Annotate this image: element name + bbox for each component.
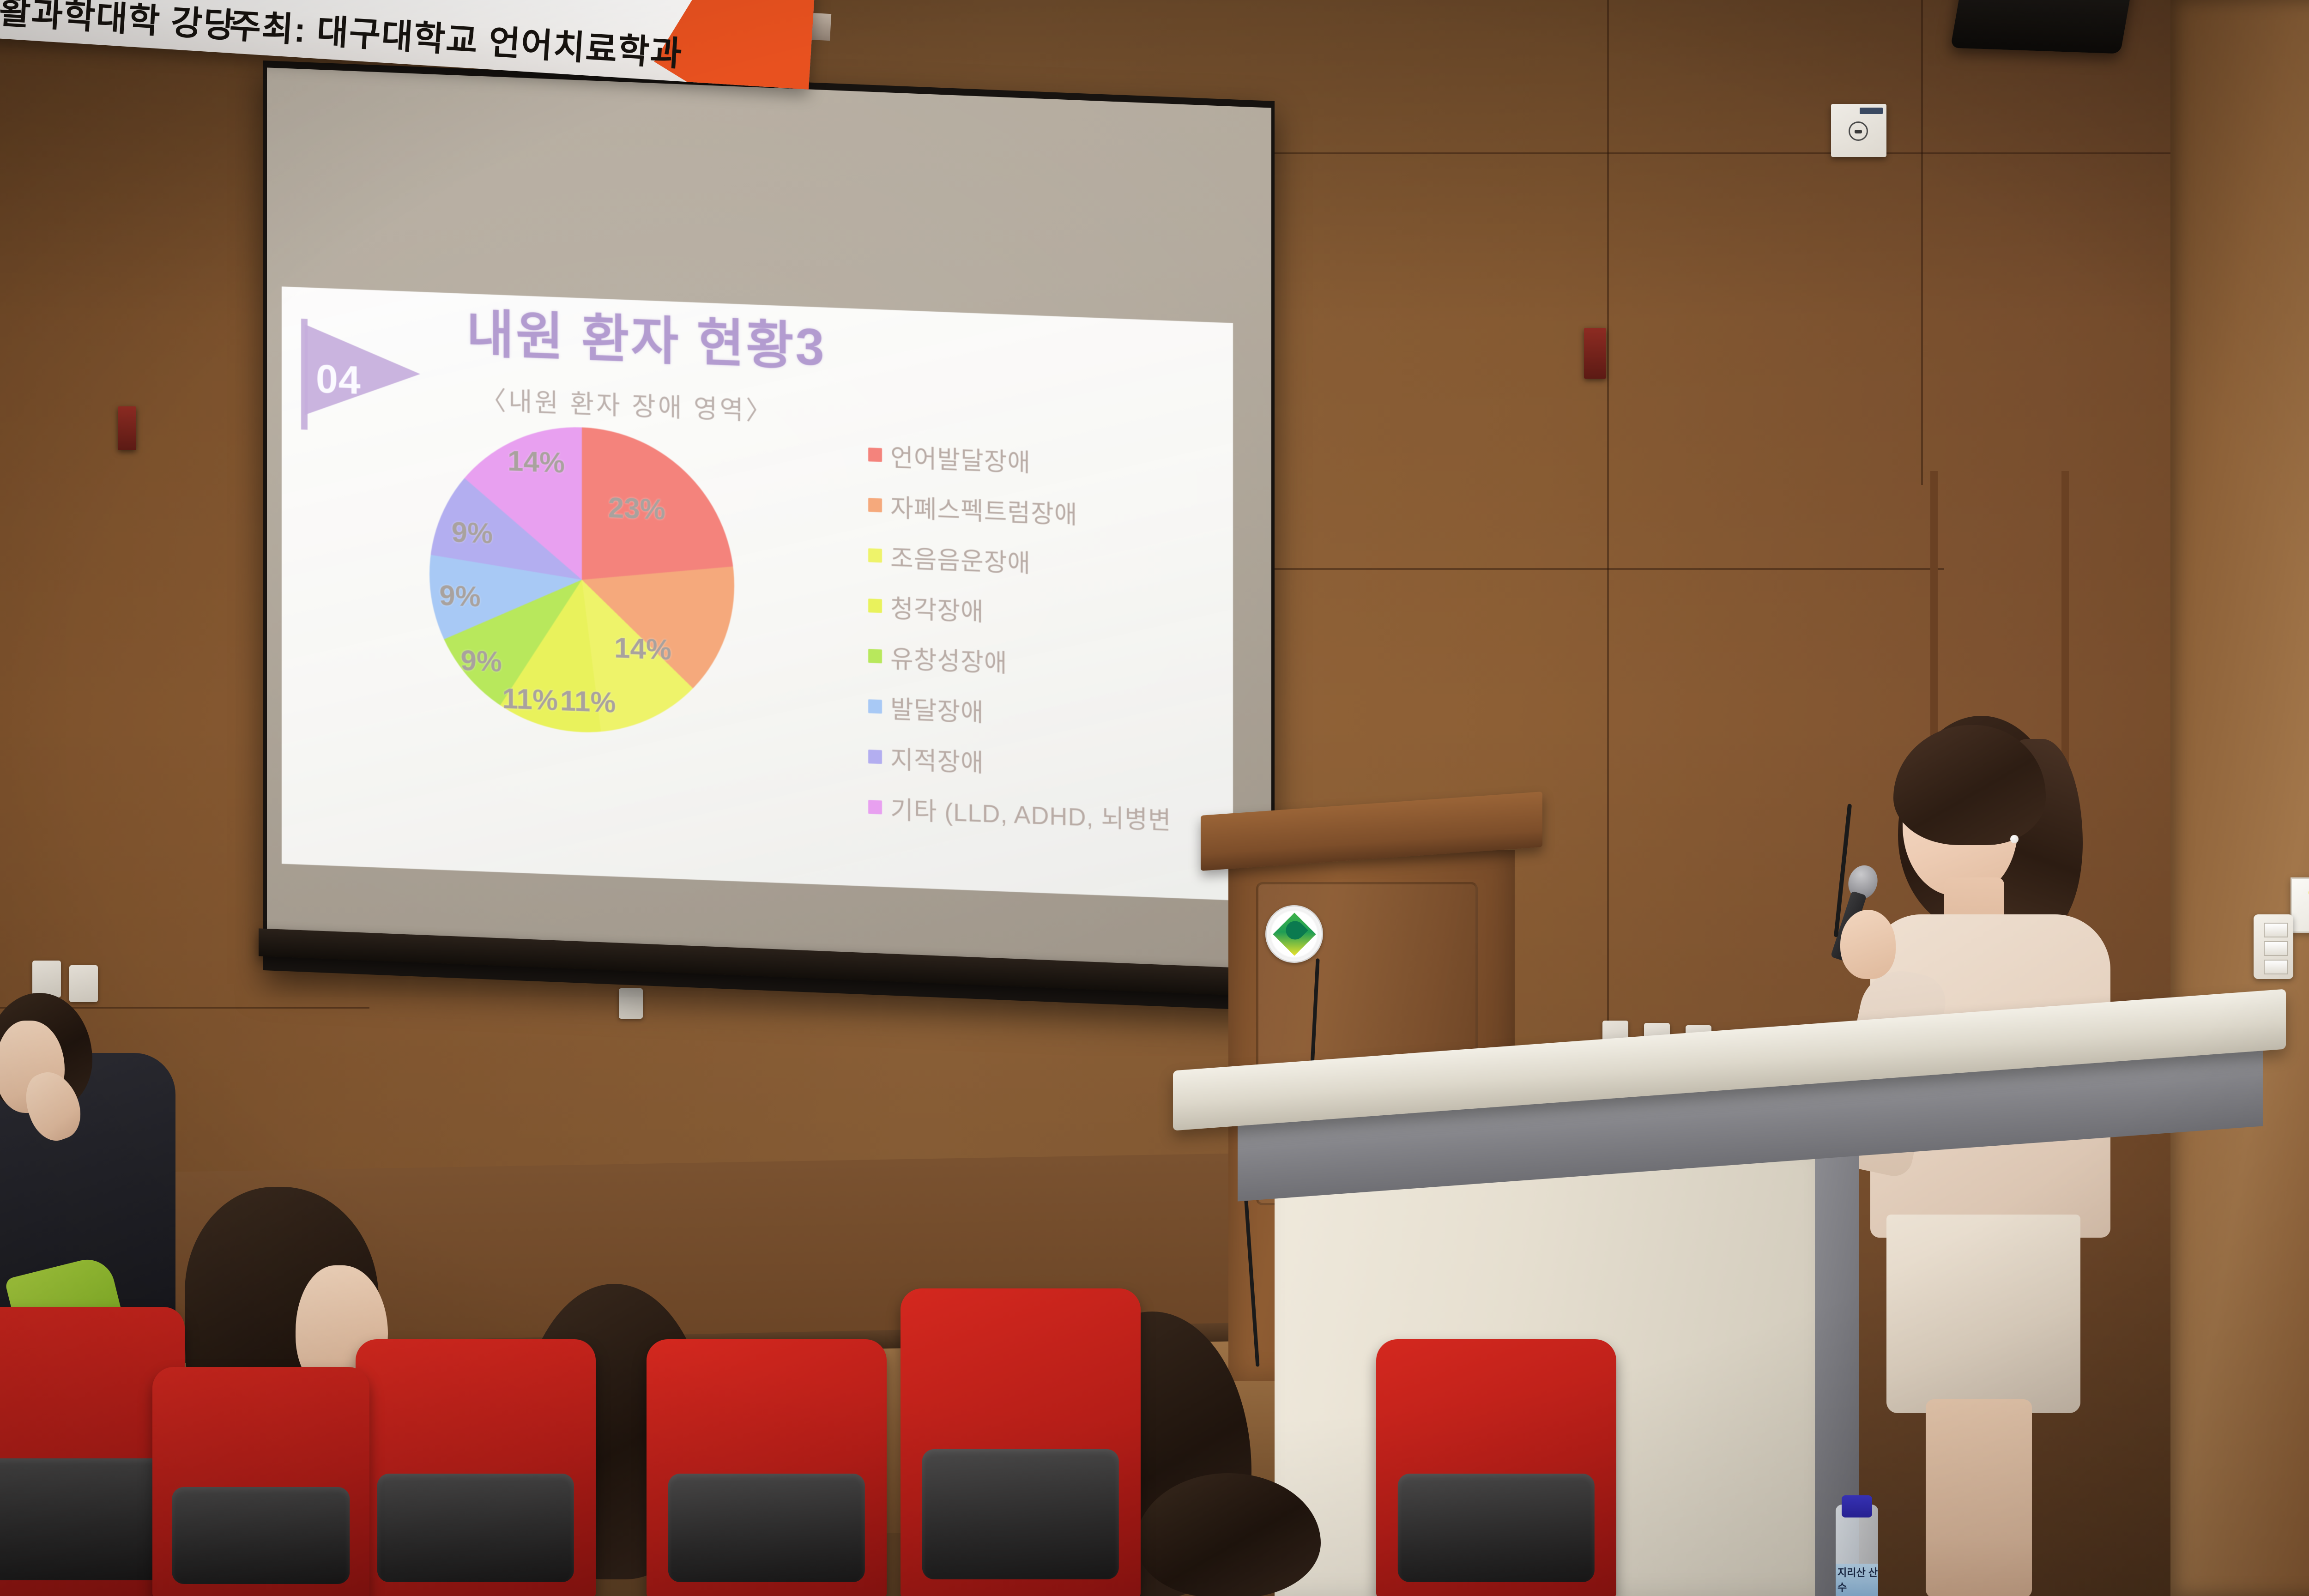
light-switch-panel[interactable] — [2254, 914, 2293, 979]
switch-toggle[interactable] — [2264, 941, 2288, 956]
auditorium-seat[interactable] — [152, 1367, 369, 1596]
motion-sensor-icon — [1831, 104, 1886, 157]
pie-chart: 23%14%11%11%9%9%9%14% — [429, 422, 734, 738]
legend-swatch-icon — [868, 699, 882, 713]
pie-slice-label: 9% — [439, 579, 481, 613]
banner-venue-text: 활과학대학 강당 — [0, 0, 237, 48]
sensor-tag — [1860, 108, 1883, 114]
slide-title: 내원 환자 현황3 — [466, 307, 826, 375]
presenter-hand — [1840, 910, 1896, 979]
wall-outlet[interactable] — [69, 965, 98, 1002]
legend-swatch-icon — [868, 750, 882, 764]
auditorium-seat[interactable] — [1376, 1339, 1616, 1596]
auditorium-seat[interactable] — [356, 1339, 596, 1596]
legend-label: 언어발달장애 — [890, 437, 1031, 479]
pie-slice-label: 9% — [452, 516, 493, 550]
presentation-slide: 04 내원 환자 현황3 〈내원 환자 장애 영역〉 23%14%11%11%9… — [282, 286, 1233, 900]
legend-swatch-icon — [868, 498, 882, 512]
ceiling-speaker-icon — [1950, 0, 2136, 54]
wall-outlet[interactable] — [619, 988, 643, 1019]
seat-headrest — [172, 1487, 350, 1584]
seat-headrest — [922, 1449, 1119, 1579]
pie-slice-label: 23% — [608, 491, 665, 526]
wall-outlet[interactable] — [32, 961, 61, 997]
legend-label: 지적장애 — [890, 739, 984, 779]
legend-swatch-icon — [868, 649, 882, 663]
legend-label: 자폐스펙트럼장애 — [890, 487, 1077, 531]
fire-alarm-box — [118, 406, 136, 450]
pie-slice-label: 11% — [560, 684, 616, 719]
seat-headrest — [377, 1474, 574, 1582]
pie-slice-label: 14% — [508, 445, 565, 480]
legend-swatch-icon — [868, 800, 882, 814]
sensor-lens-icon — [1849, 121, 1868, 141]
presenter-legs — [1926, 1399, 2032, 1596]
section-flag-badge: 04 — [296, 314, 430, 435]
chart-legend: 언어발달장애자폐스펙트럼장애조음음운장애청각장애유창성장애발달장애지적장애기타 … — [868, 429, 1228, 846]
ceiling-light-diagram — [2291, 877, 2309, 933]
right-wall-pillar — [2170, 0, 2309, 1596]
legend-label: 조음음운장애 — [890, 538, 1031, 580]
legend-label: 청각장애 — [890, 588, 984, 628]
university-emblem-icon — [1265, 905, 1323, 963]
bottle-cap-icon — [1842, 1495, 1872, 1517]
switch-toggle[interactable] — [2264, 960, 2288, 974]
seat-headrest — [1398, 1474, 1595, 1582]
fire-alarm-box — [1584, 328, 1606, 379]
legend-swatch-icon — [868, 598, 882, 613]
auditorium-seat[interactable] — [647, 1339, 887, 1596]
bottle-label-text: 지리산 산수 — [1838, 1565, 1878, 1594]
lecture-hall-scene: 04 내원 환자 현황3 〈내원 환자 장애 영역〉 23%14%11%11%9… — [0, 0, 2309, 1596]
legend-label: 발달장애 — [890, 689, 984, 729]
seat-headrest — [0, 1458, 163, 1581]
section-number: 04 — [316, 359, 361, 400]
seat-headrest — [668, 1474, 865, 1582]
presenter-skirt — [1886, 1215, 2080, 1413]
bottle-label: 지리산 산수 — [1836, 1564, 1878, 1596]
switch-toggle[interactable] — [2264, 923, 2288, 937]
legend-swatch-icon — [868, 447, 882, 462]
slide-subtitle: 〈내원 환자 장애 영역〉 — [480, 380, 774, 428]
emblem-mark-icon — [1273, 913, 1316, 955]
pie-slice-label: 9% — [460, 644, 502, 678]
pie-slice-label: 11% — [502, 682, 558, 717]
auditorium-seat[interactable] — [901, 1288, 1141, 1596]
legend-swatch-icon — [868, 548, 882, 562]
pie-slice-label: 14% — [614, 632, 671, 667]
legend-label: 기타 (LLD, ADHD, 뇌병변 — [890, 789, 1172, 836]
earring — [2010, 835, 2019, 843]
legend-label: 유창성장애 — [890, 638, 1007, 679]
